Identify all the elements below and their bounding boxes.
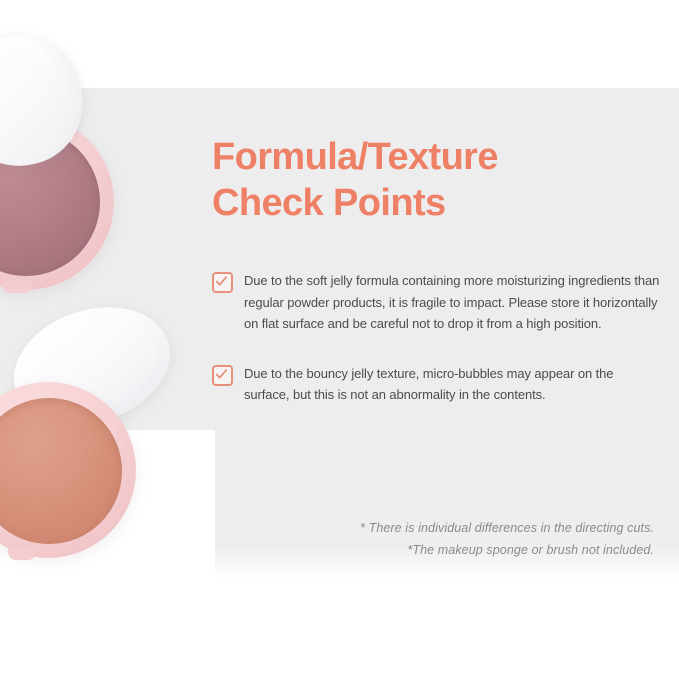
product-detail-image: Formula/Texture Check Points Due to the … bbox=[0, 0, 679, 679]
page-title-line-1: Formula/Texture bbox=[212, 136, 498, 178]
checklist-item: Due to the soft jelly formula containing… bbox=[212, 270, 662, 335]
footnote-line: * There is individual differences in the… bbox=[212, 517, 654, 539]
product-photo-compact-coral bbox=[0, 310, 210, 525]
checklist-item-text: Due to the bouncy jelly texture, micro-b… bbox=[244, 363, 662, 406]
checklist-item-text: Due to the soft jelly formula containing… bbox=[244, 270, 662, 335]
compact-notch-mauve bbox=[2, 281, 32, 293]
compact-pan-coral bbox=[0, 398, 122, 544]
footnote-line: *The makeup sponge or brush not included… bbox=[212, 539, 654, 561]
checkbox-checked-icon bbox=[212, 365, 233, 386]
checkbox-checked-icon bbox=[212, 272, 233, 293]
compact-lid-highlight-mauve bbox=[0, 38, 77, 164]
footnotes: * There is individual differences in the… bbox=[212, 517, 654, 561]
compact-notch-coral bbox=[8, 548, 36, 560]
page-title: Formula/Texture Check Points bbox=[212, 134, 662, 226]
checklist-item: Due to the bouncy jelly texture, micro-b… bbox=[212, 363, 662, 406]
page-title-line-2: Check Points bbox=[212, 182, 446, 224]
content-column: Formula/Texture Check Points Due to the … bbox=[212, 134, 662, 406]
product-photo-compact-mauve bbox=[0, 36, 178, 291]
checklist: Due to the soft jelly formula containing… bbox=[212, 270, 662, 406]
